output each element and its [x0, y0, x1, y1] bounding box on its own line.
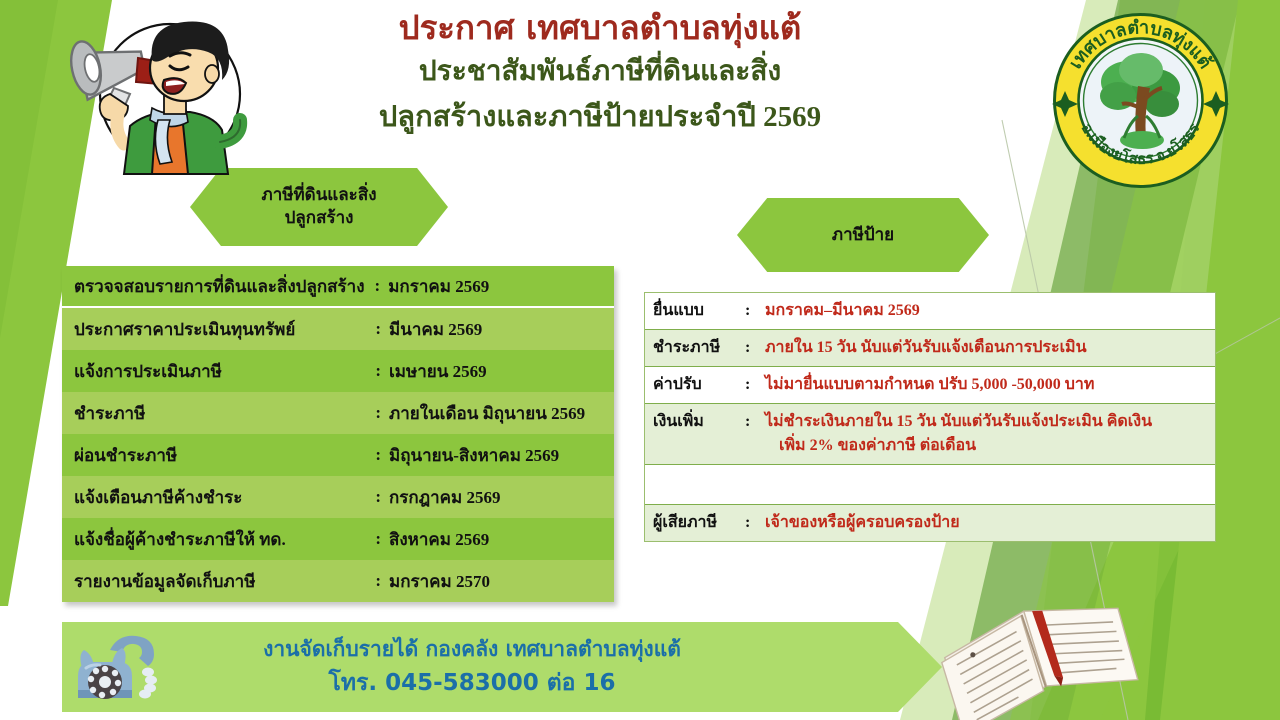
table-row: แจ้งชื่อผู้ค้างชำระภาษีให้ ทด. : สิงหาคม…: [62, 518, 614, 560]
land-row-5-colon: :: [375, 487, 389, 507]
table-row: รายงานข้อมูลจัดเก็บภาษี : มกราคม 2570: [62, 560, 614, 602]
sign-row-3-value: ไม่ชำระเงินภายใน 15 วัน นับแต่วันรับแจ้ง…: [765, 413, 1152, 430]
sign-row-0-colon: :: [745, 299, 765, 322]
table-row: ชำระภาษี : ภายใน 15 วัน นับแต่วันรับแจ้ง…: [645, 330, 1215, 367]
sign-row-5-colon: :: [745, 511, 765, 534]
poster-header: ประกาศ เทศบาลตำบลทุ่งแต้ ประชาสัมพันธ์ภา…: [280, 8, 920, 137]
sign-row-0-label: ยื่นแบบ: [653, 299, 745, 322]
boy-with-megaphone-icon: [52, 2, 282, 177]
contact-footer-banner: งานจัดเก็บรายได้ กองคลัง เทศบาลตำบลทุ่งแ…: [62, 622, 942, 712]
page-title: ประกาศ เทศบาลตำบลทุ่งแต้: [280, 8, 920, 48]
land-row-4-label: ผ่อนชำระภาษี: [74, 442, 177, 469]
table-row: ผู้เสียภาษี : เจ้าของหรือผู้ครอบครองป้าย: [645, 505, 1215, 541]
sign-row-3-value-wrap: ไม่ชำระเงินภายใน 15 วัน นับแต่วันรับแจ้ง…: [765, 410, 1209, 458]
land-row-3-label: ชำระภาษี: [74, 400, 145, 427]
land-row-7-value: มกราคม 2570: [389, 568, 604, 595]
land-tax-schedule-table: ตรวจจสอบรายการที่ดินและสิ่งปลูกสร้าง : ม…: [62, 266, 614, 602]
section-badge-land-tax: ภาษีที่ดินและสิ่ง ปลูกสร้าง: [190, 168, 448, 246]
page-subtitle-line1: ประชาสัมพันธ์ภาษีที่ดินและสิ่ง: [280, 52, 920, 92]
section-badge-sign-tax: ภาษีป้าย: [737, 198, 989, 272]
table-row: ค่าปรับ : ไม่มายื่นแบบตามกำหนด ปรับ 5,00…: [645, 367, 1215, 404]
footer-line-1: งานจัดเก็บรายได้ กองคลัง เทศบาลตำบลทุ่งแ…: [62, 634, 882, 666]
poster-canvas: เทศบาลตำบลทุ่งแต้ อ.เมืองยโสธร จ.ยโสธร ป…: [0, 0, 1280, 720]
land-row-4-value: มิถุนายน-สิงหาคม 2569: [389, 442, 604, 469]
footer-line-2: โทร. 045-583000 ต่อ 16: [62, 666, 882, 701]
land-row-1-colon: :: [375, 319, 389, 339]
sign-row-1-label: ชำระภาษี: [653, 336, 745, 359]
page-subtitle-line2: ปลูกสร้างและภาษีป้ายประจำปี 2569: [280, 98, 920, 137]
sign-row-3-label: เงินเพิ่ม: [653, 410, 745, 433]
land-row-1-value: มีนาคม 2569: [389, 316, 604, 343]
sign-row-2-colon: :: [745, 373, 765, 396]
sign-tax-rules-table: ยื่นแบบ : มกราคม–มีนาคม 2569 ชำระภาษี : …: [644, 292, 1216, 542]
contact-footer-text: งานจัดเก็บรายได้ กองคลัง เทศบาลตำบลทุ่งแ…: [62, 634, 942, 700]
sign-row-2-label: ค่าปรับ: [653, 373, 745, 396]
badge-land-line2: ปลูกสร้าง: [261, 207, 376, 230]
land-row-3-colon: :: [375, 403, 389, 423]
sign-row-3-value-line2: เพิ่ม 2% ของค่าภาษี ต่อเดือน: [765, 434, 1209, 458]
land-row-6-colon: :: [375, 529, 389, 549]
land-row-7-label: รายงานข้อมูลจัดเก็บภาษี: [74, 568, 255, 595]
land-row-3-value: ภายในเดือน มิถุนายน 2569: [389, 400, 604, 427]
table-row: ชำระภาษี : ภายในเดือน มิถุนายน 2569: [62, 392, 614, 434]
land-row-4-colon: :: [375, 445, 389, 465]
sign-row-1-colon: :: [745, 336, 765, 359]
table-row-spacer: [645, 465, 1215, 505]
table-row: ผ่อนชำระภาษี : มิถุนายน-สิงหาคม 2569: [62, 434, 614, 476]
land-row-6-label: แจ้งชื่อผู้ค้างชำระภาษีให้ ทด.: [74, 526, 286, 553]
badge-sign-line1: ภาษีป้าย: [832, 224, 894, 247]
badge-land-line1: ภาษีที่ดินและสิ่ง: [261, 184, 376, 207]
table-row: แจ้งการประเมินภาษี : เมษายน 2569: [62, 350, 614, 392]
table-row: ตรวจจสอบรายการที่ดินและสิ่งปลูกสร้าง : ม…: [62, 266, 614, 308]
sign-row-0-value: มกราคม–มีนาคม 2569: [765, 299, 1209, 323]
land-row-0-value: มกราคม 2569: [388, 273, 489, 300]
table-row: เงินเพิ่ม : ไม่ชำระเงินภายใน 15 วัน นับแ…: [645, 404, 1215, 465]
land-row-6-value: สิงหาคม 2569: [389, 526, 604, 553]
land-row-2-label: แจ้งการประเมินภาษี: [74, 358, 222, 385]
sign-row-1-value: ภายใน 15 วัน นับแต่วันรับแจ้งเตือนการประ…: [765, 336, 1209, 360]
municipal-seal-logo: เทศบาลตำบลทุ่งแต้ อ.เมืองยโสธร จ.ยโสธร: [1048, 8, 1233, 193]
sign-row-5-value: เจ้าของหรือผู้ครอบครองป้าย: [765, 511, 1209, 535]
land-row-5-label: แจ้งเตือนภาษีค้างชำระ: [74, 484, 242, 511]
land-row-2-colon: :: [375, 361, 389, 381]
table-row: แจ้งเตือนภาษีค้างชำระ : กรกฎาคม 2569: [62, 476, 614, 518]
sign-row-3-colon: :: [745, 410, 765, 433]
sign-row-2-value: ไม่มายื่นแบบตามกำหนด ปรับ 5,000 -50,000 …: [765, 373, 1209, 397]
land-row-0-colon: :: [365, 276, 389, 296]
land-row-2-value: เมษายน 2569: [389, 358, 604, 385]
land-row-7-colon: :: [375, 571, 389, 591]
table-row: ยื่นแบบ : มกราคม–มีนาคม 2569: [645, 293, 1215, 330]
sign-row-5-label: ผู้เสียภาษี: [653, 511, 745, 534]
land-row-1-label: ประกาศราคาประเมินทุนทรัพย์: [74, 316, 295, 343]
rotary-telephone-icon: [68, 628, 178, 708]
table-row: ประกาศราคาประเมินทุนทรัพย์ : มีนาคม 2569: [62, 308, 614, 350]
land-row-0-label: ตรวจจสอบรายการที่ดินและสิ่งปลูกสร้าง: [74, 273, 365, 300]
land-row-5-value: กรกฎาคม 2569: [389, 484, 604, 511]
open-book-icon: [930, 580, 1170, 720]
